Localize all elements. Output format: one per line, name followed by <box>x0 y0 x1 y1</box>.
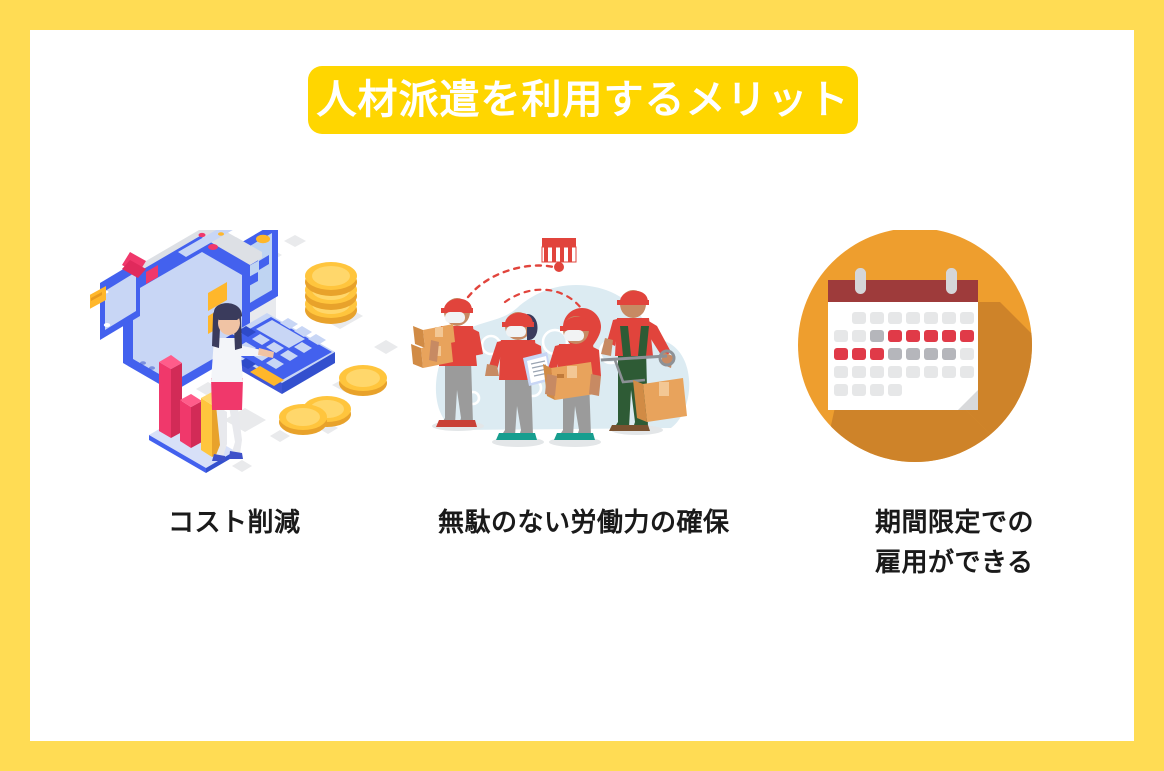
title-badge: 人材派遣を利用するメリット <box>308 66 858 134</box>
white-canvas: 人材派遣を利用するメリット <box>30 30 1134 741</box>
benefit-label-fixed-term-employment: 期間限定での 雇用ができる <box>875 502 1034 583</box>
page-title: 人材派遣を利用するメリット <box>317 80 850 120</box>
calendar-icon-illustration <box>790 230 1120 475</box>
benefits-row: コスト削減 <box>30 230 1134 650</box>
page-root: 人材派遣を利用するメリット <box>0 0 1164 771</box>
benefit-label-efficient-workforce: 無駄のない労働力の確保 <box>438 502 730 542</box>
illustration-fixed-term-employment <box>790 230 1120 475</box>
benefit-item-cost-reduction: コスト削減 <box>90 230 420 650</box>
store-icon <box>542 238 576 262</box>
ground-box <box>633 378 687 422</box>
illustration-efficient-workforce <box>405 230 735 475</box>
route-dot-end <box>554 262 564 272</box>
delivery-team-illustration <box>405 230 735 475</box>
benefit-item-fixed-term-employment: 期間限定での 雇用ができる <box>790 230 1120 650</box>
benefit-label-cost-reduction: コスト削減 <box>168 502 301 542</box>
illustration-cost-reduction <box>90 230 420 475</box>
benefit-item-efficient-workforce: 無駄のない労働力の確保 <box>405 230 735 650</box>
worker-figure-1 <box>411 298 483 427</box>
isometric-finance-illustration <box>90 230 420 475</box>
